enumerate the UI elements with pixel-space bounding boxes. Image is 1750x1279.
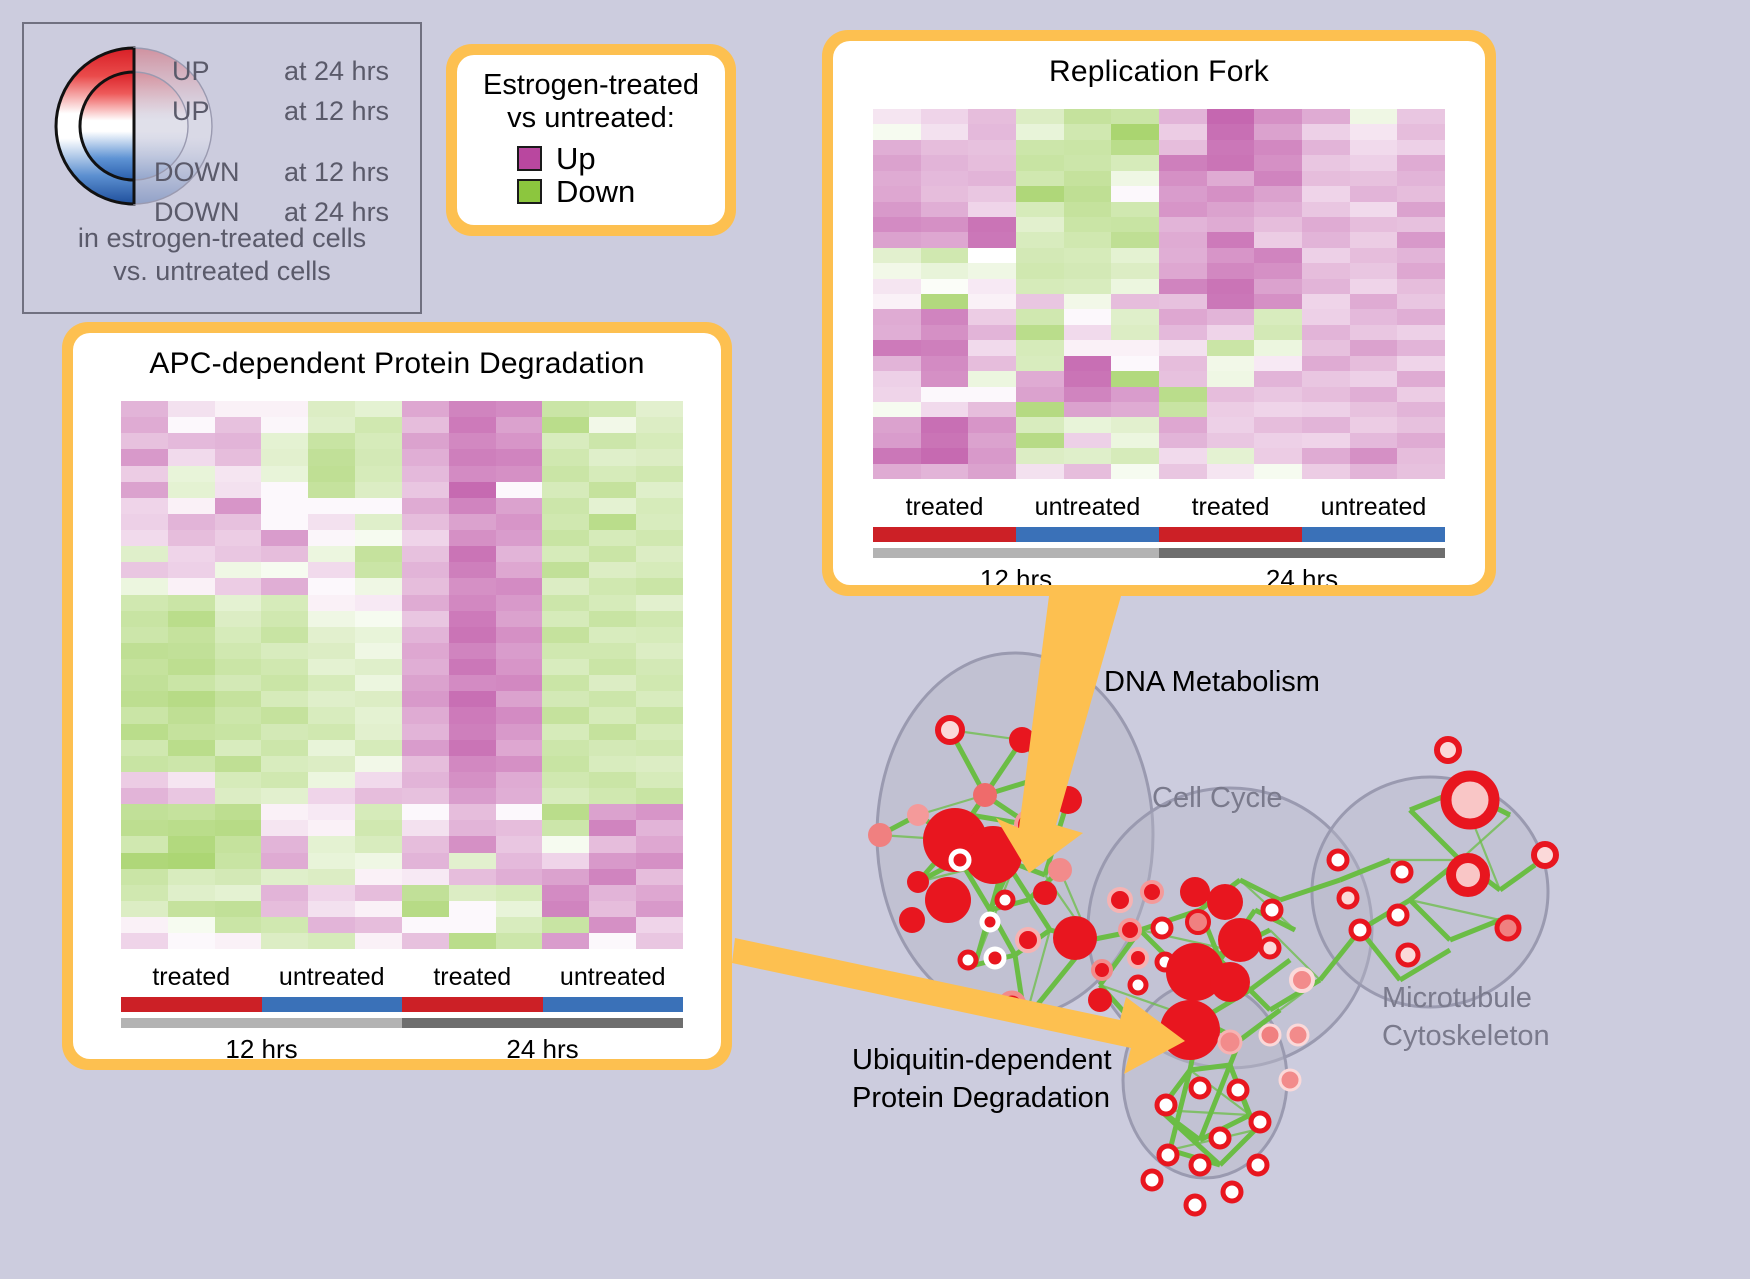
heatmap-cell bbox=[355, 853, 402, 869]
heatmap-cell bbox=[121, 804, 168, 820]
heatmap-cell bbox=[921, 232, 969, 247]
heatmap-cell bbox=[1207, 340, 1255, 355]
heatmap-cell bbox=[449, 917, 496, 933]
heatmap-row bbox=[873, 387, 1445, 402]
heatmap-cell bbox=[355, 643, 402, 659]
heatmap-cell bbox=[496, 546, 543, 562]
heatmap-cell bbox=[496, 724, 543, 740]
heatmap-cell bbox=[1207, 417, 1255, 432]
heatmap-cell bbox=[402, 498, 449, 514]
treatment-bar-segment bbox=[402, 997, 543, 1012]
heatmap-cell bbox=[121, 724, 168, 740]
heatmap-cell bbox=[1350, 279, 1398, 294]
heatmap-cell bbox=[636, 756, 683, 772]
heatmap-cell bbox=[1397, 263, 1445, 278]
heatmap-cell bbox=[1254, 325, 1302, 340]
heatmap-cell bbox=[496, 627, 543, 643]
heatmap-cell bbox=[215, 836, 262, 852]
heatmap-cell bbox=[1302, 155, 1350, 170]
heatmap-cell bbox=[589, 449, 636, 465]
heatmap-cell bbox=[921, 202, 969, 217]
heatmap-cell bbox=[402, 514, 449, 530]
heatmap-cell bbox=[1111, 279, 1159, 294]
heatmap-cell bbox=[542, 482, 589, 498]
heatmap-cell bbox=[308, 433, 355, 449]
heatmap-cell bbox=[308, 820, 355, 836]
key-footer-line1: in estrogen-treated cells bbox=[24, 222, 420, 255]
heatmap-cell bbox=[1397, 186, 1445, 201]
time-label: 24 hrs bbox=[1159, 564, 1445, 585]
heatmap-cell bbox=[261, 820, 308, 836]
heatmap-cell bbox=[1111, 171, 1159, 186]
heatmap-cell bbox=[636, 707, 683, 723]
pathway-network-diagram bbox=[800, 610, 1750, 1279]
heatmap-row bbox=[121, 740, 683, 756]
key-row-up-24: UP at 24 hrs bbox=[172, 56, 389, 87]
heatmap-cell bbox=[449, 933, 496, 949]
heatmap-cell bbox=[215, 627, 262, 643]
axis-label: untreated bbox=[543, 963, 684, 992]
heatmap-cell bbox=[261, 530, 308, 546]
heatmap-cell bbox=[589, 820, 636, 836]
legend-label-down: Down bbox=[556, 176, 635, 207]
heatmap-row bbox=[121, 498, 683, 514]
heatmap-cell bbox=[355, 449, 402, 465]
heatmap-cell bbox=[1207, 232, 1255, 247]
heatmap-cell bbox=[168, 546, 215, 562]
heatmap-row bbox=[121, 901, 683, 917]
treatment-bar-segment bbox=[1302, 527, 1445, 542]
heatmap-cell bbox=[449, 401, 496, 417]
heatmap-cell bbox=[308, 498, 355, 514]
heatmap-cell bbox=[215, 901, 262, 917]
heatmap-cell bbox=[355, 562, 402, 578]
heatmap-row bbox=[121, 724, 683, 740]
heatmap-cell bbox=[355, 466, 402, 482]
heatmap-cell bbox=[589, 724, 636, 740]
heatmap-cell bbox=[308, 772, 355, 788]
heatmap-cell bbox=[636, 691, 683, 707]
time-bar-segment bbox=[402, 1018, 683, 1028]
heatmap-cell bbox=[1159, 171, 1207, 186]
heatmap-cell bbox=[496, 917, 543, 933]
heatmap-cell bbox=[968, 155, 1016, 170]
heatmap-cell bbox=[1064, 140, 1112, 155]
heatmap-cell bbox=[1064, 448, 1112, 463]
time-bar-segment bbox=[121, 1018, 402, 1028]
heatmap-cell bbox=[1159, 371, 1207, 386]
heatmap-cell bbox=[355, 675, 402, 691]
heatmap-cell bbox=[968, 171, 1016, 186]
heatmap-cell bbox=[168, 595, 215, 611]
heatmap-cell bbox=[1397, 340, 1445, 355]
heatmap-cell bbox=[261, 466, 308, 482]
heatmap-cell bbox=[1397, 248, 1445, 263]
heatmap-cell bbox=[968, 464, 1016, 479]
heatmap-cell bbox=[636, 901, 683, 917]
heatmap-cell bbox=[261, 578, 308, 594]
heatmap-cell bbox=[168, 917, 215, 933]
heatmap-cell bbox=[1016, 387, 1064, 402]
heatmap-cell bbox=[1350, 248, 1398, 263]
heatmap-cell bbox=[1397, 217, 1445, 232]
heatmap-cell bbox=[968, 124, 1016, 139]
heatmap-cell bbox=[921, 433, 969, 448]
heatmap-cell bbox=[261, 595, 308, 611]
heatmap-cell bbox=[355, 401, 402, 417]
heatmap-cell bbox=[873, 202, 921, 217]
heatmap-cell bbox=[1111, 294, 1159, 309]
heatmap-cell bbox=[168, 659, 215, 675]
heatmap-cell bbox=[355, 836, 402, 852]
heatmap-cell bbox=[1016, 325, 1064, 340]
heatmap-cell bbox=[1397, 171, 1445, 186]
heatmap-cell bbox=[121, 772, 168, 788]
heatmap-cell bbox=[1397, 402, 1445, 417]
heatmap-cell bbox=[215, 449, 262, 465]
heatmap-cell bbox=[1064, 202, 1112, 217]
heatmap-cell bbox=[1302, 217, 1350, 232]
heatmap-cell bbox=[449, 691, 496, 707]
heatmap-cell bbox=[1350, 464, 1398, 479]
heatmap-cell bbox=[308, 869, 355, 885]
heatmap-cell bbox=[1254, 109, 1302, 124]
heatmap-cell bbox=[636, 643, 683, 659]
heatmap-cell bbox=[402, 546, 449, 562]
heatmap-cell bbox=[121, 595, 168, 611]
heatmap-cell bbox=[1350, 140, 1398, 155]
heatmap-cell bbox=[308, 853, 355, 869]
heatmap-cell bbox=[1111, 217, 1159, 232]
heatmap-cell bbox=[1111, 417, 1159, 432]
heatmap-cell bbox=[121, 675, 168, 691]
heatmap-cell bbox=[121, 611, 168, 627]
heatmap-cell bbox=[542, 820, 589, 836]
time-bar-segment bbox=[1159, 548, 1445, 558]
heatmap-cell bbox=[496, 562, 543, 578]
heatmap-cell bbox=[636, 498, 683, 514]
heatmap-cell bbox=[402, 836, 449, 852]
heatmap-cell bbox=[542, 401, 589, 417]
heatmap-cell bbox=[1111, 309, 1159, 324]
down-color-swatch bbox=[517, 179, 542, 204]
heatmap-cell bbox=[496, 449, 543, 465]
heatmap-cell bbox=[1350, 232, 1398, 247]
heatmap-cell bbox=[261, 901, 308, 917]
heatmap-cell bbox=[589, 611, 636, 627]
heatmap-cell bbox=[308, 449, 355, 465]
time-labels-replication-fork: 12 hrs 24 hrs bbox=[873, 564, 1445, 585]
heatmap-cell bbox=[542, 740, 589, 756]
heatmap-cell bbox=[1350, 309, 1398, 324]
heatmap-cell bbox=[168, 853, 215, 869]
heatmap-cell bbox=[542, 595, 589, 611]
key-time: at 12 hrs bbox=[284, 157, 389, 188]
heatmap-cell bbox=[589, 788, 636, 804]
heatmap-cell bbox=[1064, 217, 1112, 232]
heatmap-cell bbox=[1302, 232, 1350, 247]
treatment-bar-replication-fork bbox=[873, 527, 1445, 542]
heatmap-cell bbox=[402, 901, 449, 917]
heatmap-cell bbox=[1302, 109, 1350, 124]
heatmap-cell bbox=[402, 772, 449, 788]
heatmap-cell bbox=[1397, 140, 1445, 155]
heatmap-cell bbox=[542, 756, 589, 772]
heatmap-cell bbox=[1111, 124, 1159, 139]
heatmap-cell bbox=[215, 578, 262, 594]
heatmap-cell bbox=[1254, 232, 1302, 247]
heatmap-cell bbox=[921, 387, 969, 402]
heatmap-cell bbox=[542, 804, 589, 820]
heatmap-cell bbox=[873, 371, 921, 386]
heatmap-cell bbox=[215, 417, 262, 433]
time-bar-segment bbox=[873, 548, 1159, 558]
heatmap-cell bbox=[921, 371, 969, 386]
heatmap-cell bbox=[402, 740, 449, 756]
heatmap-cell bbox=[308, 514, 355, 530]
heatmap-cell bbox=[215, 869, 262, 885]
heatmap-cell bbox=[121, 740, 168, 756]
heatmap-cell bbox=[215, 804, 262, 820]
heatmap-cell bbox=[542, 853, 589, 869]
heatmap-row bbox=[121, 836, 683, 852]
heatmap-cell bbox=[968, 371, 1016, 386]
heatmap-row bbox=[121, 466, 683, 482]
heatmap-cell bbox=[968, 356, 1016, 371]
heatmap-row bbox=[873, 464, 1445, 479]
heatmap-cell bbox=[168, 885, 215, 901]
heatmap-cell bbox=[968, 109, 1016, 124]
heatmap-cell bbox=[1207, 140, 1255, 155]
heatmap-cell bbox=[215, 820, 262, 836]
heatmap-cell bbox=[921, 171, 969, 186]
key-footer-line2: vs. untreated cells bbox=[24, 255, 420, 288]
heatmap-row bbox=[873, 448, 1445, 463]
expression-key-box: UP at 24 hrs UP at 12 hrs DOWN at 12 hrs… bbox=[22, 22, 422, 314]
heatmap-cell bbox=[1159, 417, 1207, 432]
heatmap-row bbox=[121, 820, 683, 836]
heatmap-cell bbox=[168, 772, 215, 788]
heatmap-cell bbox=[636, 611, 683, 627]
heatmap-cell bbox=[168, 740, 215, 756]
time-bar-apc-degradation bbox=[121, 1018, 683, 1028]
heatmap-cell bbox=[449, 740, 496, 756]
heatmap-cell bbox=[402, 643, 449, 659]
legend-item-down: Down bbox=[517, 176, 725, 207]
heatmap-cell bbox=[968, 340, 1016, 355]
heatmap-row bbox=[121, 578, 683, 594]
heatmap-row bbox=[873, 356, 1445, 371]
heatmap-cell bbox=[308, 901, 355, 917]
heatmap-cell bbox=[449, 449, 496, 465]
heatmap-cell bbox=[1207, 217, 1255, 232]
heatmap-cell bbox=[636, 724, 683, 740]
heatmap-cell bbox=[168, 482, 215, 498]
heatmap-cell bbox=[873, 356, 921, 371]
heatmap-cell bbox=[1064, 248, 1112, 263]
heatmap-row bbox=[121, 562, 683, 578]
heatmap-cell bbox=[589, 498, 636, 514]
time-label: 12 hrs bbox=[873, 564, 1159, 585]
heatmap-cell bbox=[1159, 294, 1207, 309]
heatmap-cell bbox=[355, 756, 402, 772]
heatmap-cell bbox=[308, 707, 355, 723]
heatmap-cell bbox=[1207, 248, 1255, 263]
heatmap-cell bbox=[1350, 371, 1398, 386]
heatmap-cell bbox=[402, 417, 449, 433]
heatmap-row bbox=[121, 401, 683, 417]
heatmap-cell bbox=[168, 466, 215, 482]
heatmap-cell bbox=[496, 933, 543, 949]
axis-labels-replication-fork: treated untreated treated untreated bbox=[873, 493, 1445, 522]
heatmap-cell bbox=[1064, 109, 1112, 124]
heatmap-cell bbox=[168, 836, 215, 852]
key-time: at 24 hrs bbox=[284, 56, 389, 87]
heatmap-cell bbox=[1159, 340, 1207, 355]
heatmap-row bbox=[121, 546, 683, 562]
heatmap-cell bbox=[121, 643, 168, 659]
heatmap-cell bbox=[308, 643, 355, 659]
heatmap-cell bbox=[921, 448, 969, 463]
heatmap-cell bbox=[261, 433, 308, 449]
heatmap-cell bbox=[921, 464, 969, 479]
axis-labels-apc-degradation: treated untreated treated untreated bbox=[121, 963, 683, 992]
heatmap-cell bbox=[402, 530, 449, 546]
heatmap-cell bbox=[355, 820, 402, 836]
heatmap-cell bbox=[1207, 279, 1255, 294]
heatmap-cell bbox=[542, 578, 589, 594]
heatmap-cell bbox=[355, 788, 402, 804]
heatmap-cell bbox=[308, 482, 355, 498]
heatmap-cell bbox=[261, 482, 308, 498]
heatmap-cell bbox=[308, 578, 355, 594]
heatmap-row bbox=[121, 917, 683, 933]
heatmap-cell bbox=[873, 217, 921, 232]
heatmap-cell bbox=[589, 578, 636, 594]
heatmap-cell bbox=[215, 498, 262, 514]
legend-label-up: Up bbox=[556, 143, 596, 174]
time-bar-replication-fork bbox=[873, 548, 1445, 558]
heatmap-cell bbox=[402, 788, 449, 804]
heatmap-cell bbox=[1350, 340, 1398, 355]
heatmap-cell bbox=[1016, 186, 1064, 201]
heatmap-cell bbox=[496, 836, 543, 852]
heatmap-cell bbox=[402, 820, 449, 836]
heatmap-cell bbox=[1254, 171, 1302, 186]
heatmap-cell bbox=[449, 466, 496, 482]
heatmap-cell bbox=[1350, 356, 1398, 371]
heatmap-cell bbox=[121, 578, 168, 594]
heatmap-cell bbox=[1159, 464, 1207, 479]
replication-fork-panel: Replication Fork treated untreated treat… bbox=[822, 30, 1496, 596]
heatmap-cell bbox=[1016, 171, 1064, 186]
heatmap-cell bbox=[355, 804, 402, 820]
heatmap-cell bbox=[1254, 464, 1302, 479]
heatmap-cell bbox=[121, 401, 168, 417]
heatmap-cell bbox=[1350, 217, 1398, 232]
heatmap-cell bbox=[449, 433, 496, 449]
heatmap-cell bbox=[1350, 294, 1398, 309]
heatmap-cell bbox=[589, 562, 636, 578]
heatmap-cell bbox=[215, 433, 262, 449]
heatmap-cell bbox=[1111, 248, 1159, 263]
heatmap-cell bbox=[636, 546, 683, 562]
heatmap-cell bbox=[308, 530, 355, 546]
heatmap-cell bbox=[542, 724, 589, 740]
heatmap-cell bbox=[121, 530, 168, 546]
heatmap-cell bbox=[402, 466, 449, 482]
heatmap-cell bbox=[1016, 248, 1064, 263]
heatmap-cell bbox=[496, 691, 543, 707]
heatmap-cell bbox=[1254, 371, 1302, 386]
heatmap-cell bbox=[873, 340, 921, 355]
heatmap-cell bbox=[121, 901, 168, 917]
heatmap-cell bbox=[168, 804, 215, 820]
heatmap-cell bbox=[496, 643, 543, 659]
heatmap-cell bbox=[308, 804, 355, 820]
heatmap-row bbox=[121, 659, 683, 675]
panel-title-replication-fork: Replication Fork bbox=[833, 41, 1485, 89]
heatmap-cell bbox=[1064, 402, 1112, 417]
heatmap-cell bbox=[636, 740, 683, 756]
heatmap-cell bbox=[215, 885, 262, 901]
heatmap-cell bbox=[355, 659, 402, 675]
heatmap-cell bbox=[496, 772, 543, 788]
heatmap-cell bbox=[449, 788, 496, 804]
heatmap-cell bbox=[1064, 186, 1112, 201]
heatmap-cell bbox=[542, 546, 589, 562]
key-time: at 12 hrs bbox=[284, 96, 389, 127]
heatmap-cell bbox=[636, 449, 683, 465]
heatmap-cell bbox=[449, 514, 496, 530]
heatmap-cell bbox=[1016, 124, 1064, 139]
heatmap-cell bbox=[1302, 371, 1350, 386]
heatmap-cell bbox=[1397, 433, 1445, 448]
heatmap-cell bbox=[968, 140, 1016, 155]
heatmap-cell bbox=[402, 562, 449, 578]
heatmap-cell bbox=[1207, 186, 1255, 201]
heatmap-cell bbox=[261, 804, 308, 820]
heatmap-cell bbox=[496, 659, 543, 675]
heatmap-cell bbox=[402, 675, 449, 691]
heatmap-cell bbox=[542, 514, 589, 530]
heatmap-cell bbox=[1111, 433, 1159, 448]
heatmap-cell bbox=[1302, 433, 1350, 448]
heatmap-cell bbox=[1302, 340, 1350, 355]
heatmap-cell bbox=[449, 546, 496, 562]
heatmap-cell bbox=[215, 724, 262, 740]
heatmap-cell bbox=[968, 448, 1016, 463]
heatmap-cell bbox=[261, 643, 308, 659]
heatmap-cell bbox=[121, 691, 168, 707]
heatmap-cell bbox=[1064, 155, 1112, 170]
heatmap-cell bbox=[636, 659, 683, 675]
legend-heading-line2: vs untreated: bbox=[457, 102, 725, 135]
heatmap-cell bbox=[589, 901, 636, 917]
heatmap-cell bbox=[121, 466, 168, 482]
heatmap-cell bbox=[496, 578, 543, 594]
heatmap-cell bbox=[355, 901, 402, 917]
heatmap-cell bbox=[1397, 448, 1445, 463]
heatmap-cell bbox=[589, 675, 636, 691]
heatmap-cell bbox=[1302, 248, 1350, 263]
heatmap-cell bbox=[1111, 186, 1159, 201]
heatmap-cell bbox=[261, 675, 308, 691]
heatmap-cell bbox=[1064, 325, 1112, 340]
heatmap-cell bbox=[589, 643, 636, 659]
heatmap-cell bbox=[589, 546, 636, 562]
heatmap-cell bbox=[261, 562, 308, 578]
